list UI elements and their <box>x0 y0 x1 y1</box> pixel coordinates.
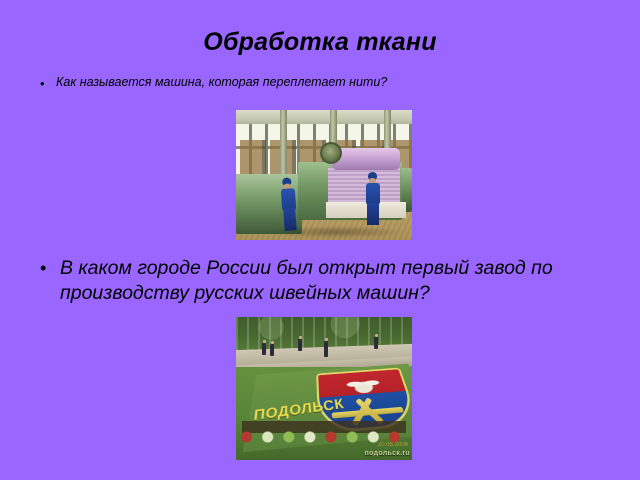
worker-legs <box>367 203 379 225</box>
park-visitor <box>298 339 302 351</box>
park-visitor <box>324 341 328 357</box>
park-visitor <box>270 344 274 356</box>
bullet-marker-icon: • <box>40 74 56 90</box>
mill-floor-shadow <box>266 226 406 238</box>
loom-gear-icon <box>320 142 342 164</box>
podolsk-flowerbed-photo: ПОДОЛЬСК 20.05.2006 подольск.ru <box>236 317 412 460</box>
double-headed-eagle-icon <box>341 373 386 395</box>
worker-torso <box>366 183 380 205</box>
slide-canvas: Обработка ткани • Как называется машина,… <box>0 0 640 480</box>
bullet-item-1: • Как называется машина, которая перепле… <box>40 74 600 90</box>
fabric-roll <box>332 148 400 170</box>
weaving-mill-photo <box>236 110 412 240</box>
bullet-text-2: В каком городе России был открыт первый … <box>60 256 580 306</box>
photo-date-watermark: 20.05.2006 <box>378 442 408 448</box>
park-visitor <box>374 337 378 349</box>
park-visitor <box>262 343 266 355</box>
bullet-marker-icon: • <box>40 256 60 277</box>
mill-pillar <box>280 110 287 180</box>
fabric-sheet <box>328 168 400 206</box>
page-title: Обработка ткани <box>0 28 640 57</box>
bullet-item-2: • В каком городе России был открыт первы… <box>40 256 610 306</box>
photo-site-watermark: подольск.ru <box>365 450 410 457</box>
bullet-text-1: Как называется машина, которая переплета… <box>56 74 387 90</box>
fabric-white-web <box>326 202 406 218</box>
